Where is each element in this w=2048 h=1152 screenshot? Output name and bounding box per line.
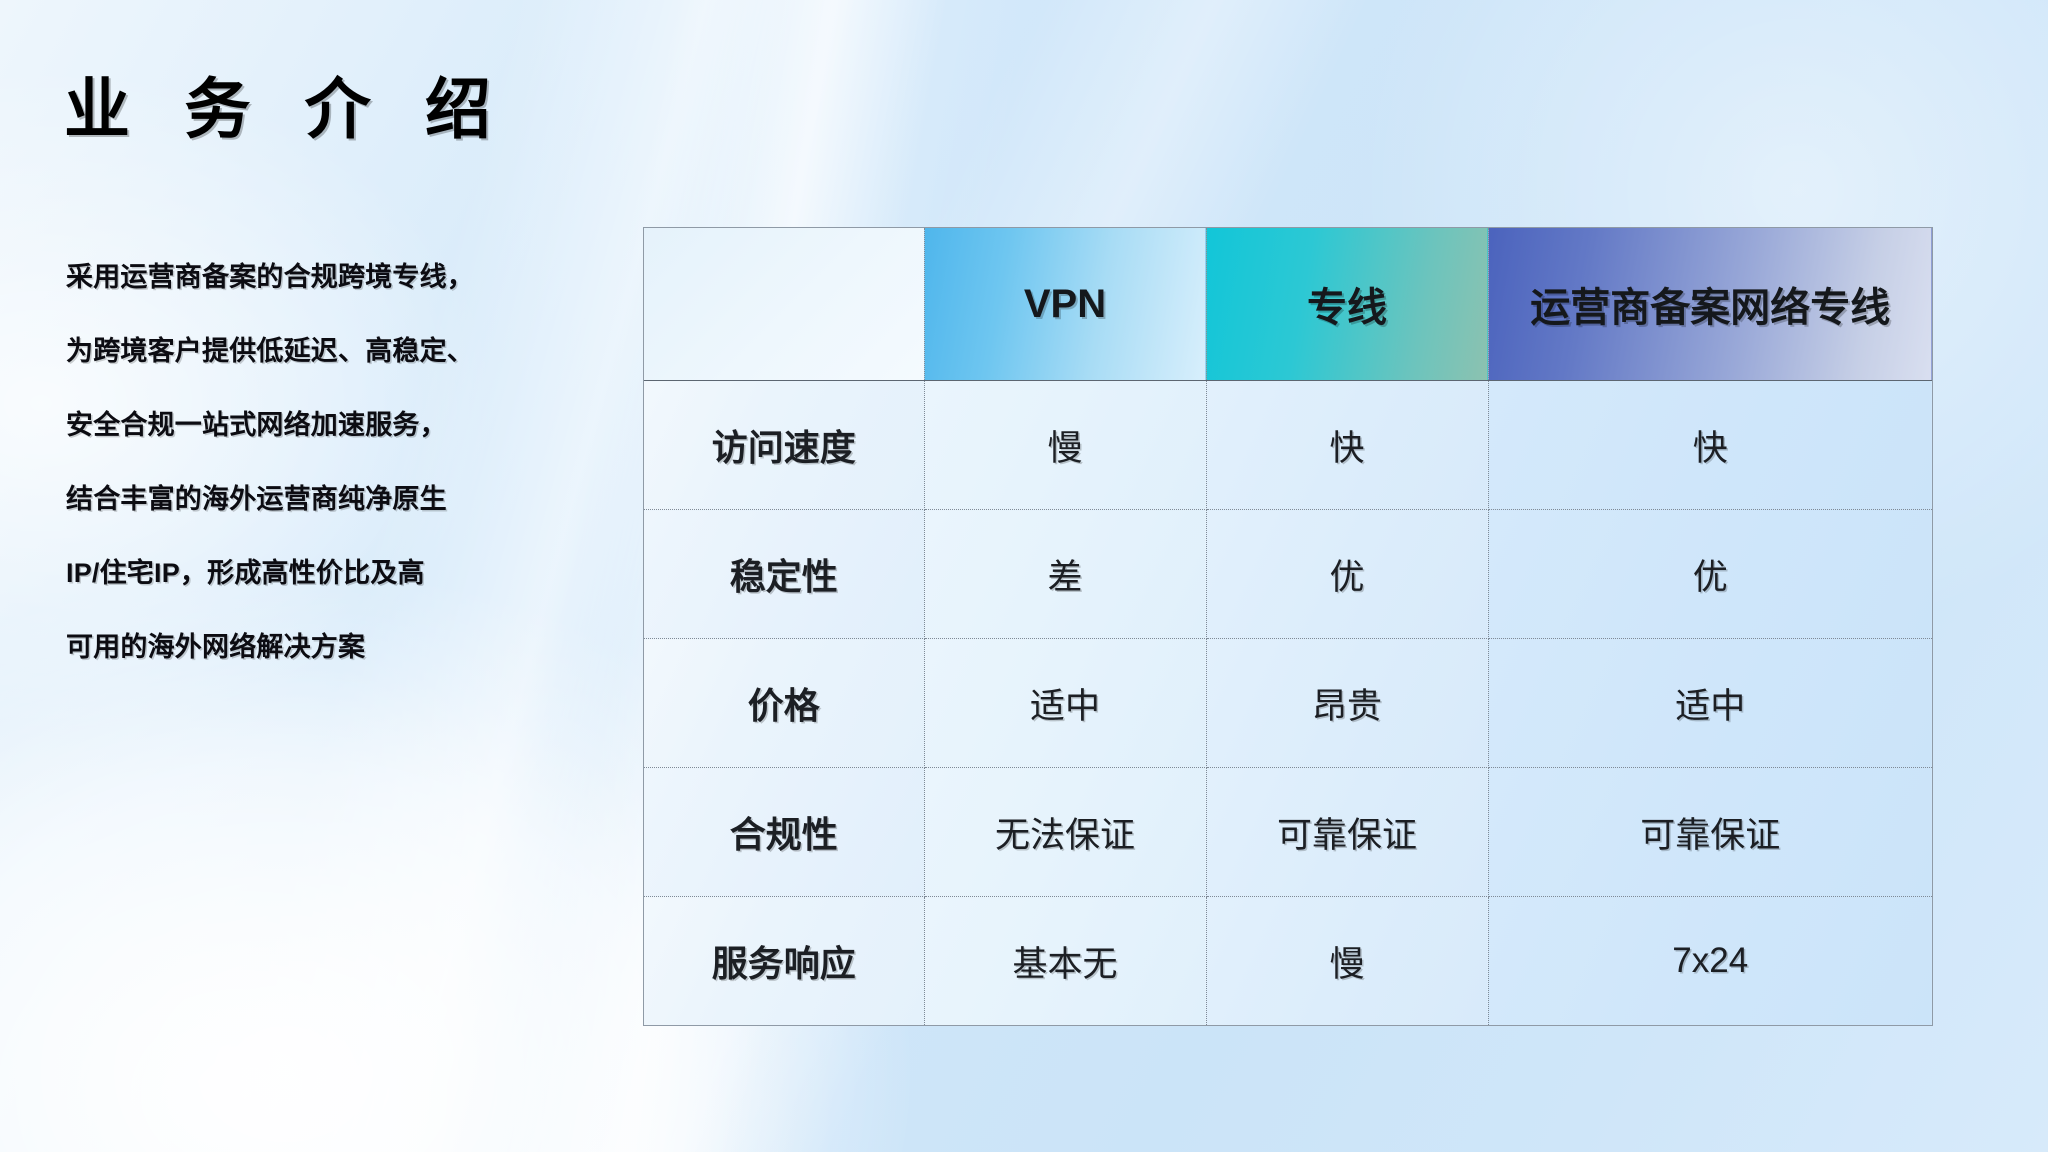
- page-title: 业 务 介 绍: [64, 56, 509, 152]
- cell-line: 慢: [1206, 897, 1488, 1026]
- intro-line: 采用运营商备案的合规跨境专线，: [66, 240, 486, 314]
- intro-line: 可用的海外网络解决方案: [66, 610, 486, 684]
- table-header-blank: [644, 228, 924, 381]
- cell-line: 快: [1206, 381, 1488, 510]
- row-label: 访问速度: [644, 381, 924, 510]
- table-row: 服务响应 基本无 慢 7x24: [644, 897, 1932, 1026]
- table-header-vpn: VPN: [924, 228, 1206, 381]
- cell-line: 优: [1206, 510, 1488, 639]
- cell-carrier: 适中: [1488, 639, 1932, 768]
- cell-vpn: 基本无: [924, 897, 1206, 1026]
- table-header: VPN 专线 运营商备案网络专线: [644, 228, 1932, 381]
- intro-line: 为跨境客户提供低延迟、高稳定、: [66, 314, 486, 388]
- row-label: 服务响应: [644, 897, 924, 1026]
- cell-carrier: 优: [1488, 510, 1932, 639]
- row-label: 合规性: [644, 768, 924, 897]
- intro-line: 结合丰富的海外运营商纯净原生: [66, 462, 486, 536]
- intro-line: 安全合规一站式网络加速服务，: [66, 388, 486, 462]
- cell-line: 昂贵: [1206, 639, 1488, 768]
- intro-line: IP/住宅IP，形成高性价比及高: [66, 536, 486, 610]
- table-header-line: 专线: [1206, 228, 1488, 381]
- row-label: 稳定性: [644, 510, 924, 639]
- table-body: 访问速度 慢 快 快 稳定性 差 优 优 价格 适中 昂贵 适中 合规性 无法保…: [644, 381, 1932, 1026]
- table-header-carrier: 运营商备案网络专线: [1488, 228, 1932, 381]
- cell-vpn: 慢: [924, 381, 1206, 510]
- slide-canvas: 业 务 介 绍 采用运营商备案的合规跨境专线， 为跨境客户提供低延迟、高稳定、 …: [0, 0, 2048, 1152]
- cell-vpn: 无法保证: [924, 768, 1206, 897]
- cell-vpn: 差: [924, 510, 1206, 639]
- comparison-table: VPN 专线 运营商备案网络专线 访问速度 慢 快 快 稳定性 差 优 优 价格…: [644, 228, 1932, 1025]
- cell-carrier: 7x24: [1488, 897, 1932, 1026]
- table-row: 合规性 无法保证 可靠保证 可靠保证: [644, 768, 1932, 897]
- intro-paragraph: 采用运营商备案的合规跨境专线， 为跨境客户提供低延迟、高稳定、 安全合规一站式网…: [66, 240, 486, 684]
- table-row: 价格 适中 昂贵 适中: [644, 639, 1932, 768]
- cell-carrier: 可靠保证: [1488, 768, 1932, 897]
- row-label: 价格: [644, 639, 924, 768]
- cell-vpn: 适中: [924, 639, 1206, 768]
- cell-line: 可靠保证: [1206, 768, 1488, 897]
- table-row: 稳定性 差 优 优: [644, 510, 1932, 639]
- table-header-row: VPN 专线 运营商备案网络专线: [644, 228, 1932, 381]
- cell-carrier: 快: [1488, 381, 1932, 510]
- table-row: 访问速度 慢 快 快: [644, 381, 1932, 510]
